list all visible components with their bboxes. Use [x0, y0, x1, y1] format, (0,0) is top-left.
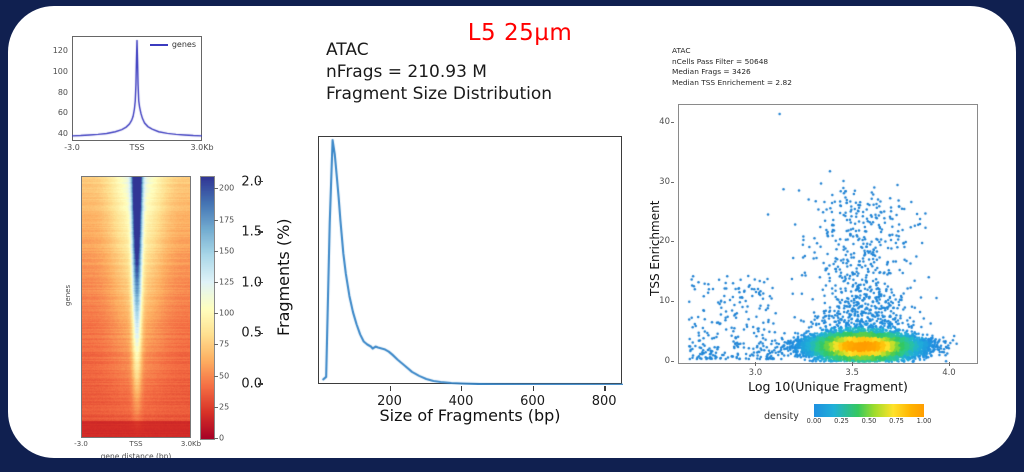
tss-heatmap-image [81, 176, 191, 438]
colorbar-tickmark [214, 220, 218, 221]
fragment-y-ticklabels: 0.00.51.01.52.0 [222, 136, 262, 384]
profile-x-tick: TSS [129, 143, 144, 152]
fragment-x-tickmark [604, 386, 605, 391]
density-colorbar: density 0.000.250.500.751.00 [764, 404, 964, 432]
scatter-y-tick: 40 [659, 117, 670, 127]
scatter-x-tickmark [949, 362, 950, 366]
scatter-y-tickmark [671, 361, 674, 362]
scatter-y-tick: 0 [665, 356, 670, 366]
colorbar-tickmark [214, 376, 218, 377]
tss-scatter-panel: ATAC nCells Pass Filter = 50648 Median F… [644, 46, 1016, 446]
scatter-y-tickmark [671, 301, 674, 302]
scatter-x-tick: 4.0 [942, 368, 956, 378]
scatter-x-tick: 3.0 [749, 368, 763, 378]
scatter-y-tick: 10 [659, 296, 670, 306]
density-tick: 0.50 [862, 417, 877, 425]
fragment-x-tick: 800 [592, 394, 617, 409]
tss-heatmap-colorbar: 0255075100125150175200 [200, 176, 213, 438]
profile-y-tick: 40 [58, 129, 68, 138]
density-tick: 0.75 [889, 417, 904, 425]
fragment-x-tickmark [461, 386, 462, 391]
fragment-y-tickmark [258, 383, 263, 384]
colorbar-tickmark [214, 282, 218, 283]
heatmap-x-tick: TSS [129, 440, 142, 448]
heatmap-x-tick: -3.0 [74, 440, 88, 448]
colorbar-tickmark [214, 407, 218, 408]
fragment-y-tickmark [258, 282, 263, 283]
slide-card: L5 25µm genes 406080100120 -3.0TSS3.0Kb … [8, 6, 1016, 458]
tss-heatmap-y-axis-label: genes [64, 285, 72, 306]
fragment-y-tickmark [258, 231, 263, 232]
fragment-panel-header: ATAC nFrags = 210.93 M Fragment Size Dis… [326, 40, 552, 105]
heatmap-x-tick: 3.0Kb [181, 440, 201, 448]
profile-x-tick: 3.0Kb [190, 143, 213, 152]
scatter-y-axis-label: TSS Enrichment [648, 201, 662, 296]
tss-scatter-plot [678, 104, 978, 364]
colorbar-tickmark [214, 313, 218, 314]
legend-line-icon [150, 44, 168, 46]
density-tick: 0.25 [834, 417, 849, 425]
scatter-x-tickmark [852, 362, 853, 366]
colorbar-tickmark [214, 344, 218, 345]
scatter-y-tickmark [671, 122, 674, 123]
scatter-y-tick: 30 [659, 177, 670, 187]
scatter-y-tickmark [671, 241, 674, 242]
scatter-y-tickmark [671, 182, 674, 183]
fragment-size-plot [318, 136, 622, 384]
legend-label-genes: genes [172, 40, 196, 49]
profile-y-tick: 60 [58, 108, 68, 117]
colorbar-gradient [200, 176, 215, 440]
fragment-y-axis-label: Fragments (%) [274, 218, 293, 336]
fragment-size-canvas [319, 137, 623, 385]
fragment-x-tickmark [533, 386, 534, 391]
scatter-x-tick: 3.5 [845, 368, 859, 378]
fragment-x-tickmark [390, 386, 391, 391]
fragment-x-axis-label: Size of Fragments (bp) [379, 406, 560, 425]
profile-y-tick: 80 [58, 88, 68, 97]
scatter-x-tickmark [755, 362, 756, 366]
density-tick: 0.00 [807, 417, 822, 425]
tss-profile-chart: genes 406080100120 -3.0TSS3.0Kb [72, 36, 202, 141]
tss-scatter-canvas [679, 105, 978, 364]
density-gradient-bar [814, 404, 924, 417]
colorbar-tickmark [214, 251, 218, 252]
slide-background: L5 25µm genes 406080100120 -3.0TSS3.0Kb … [0, 0, 1024, 472]
colorbar-tickmark [214, 438, 218, 439]
profile-y-tick: 100 [53, 67, 68, 76]
profile-y-tick: 120 [53, 46, 68, 55]
fragment-y-tickmark [258, 333, 263, 334]
tss-profile-x-ticklabels: -3.0TSS3.0Kb [72, 143, 202, 157]
tss-heatmap [81, 176, 191, 438]
tss-profile-canvas [72, 36, 202, 141]
fragment-size-panel: ATAC nFrags = 210.93 M Fragment Size Dis… [266, 36, 636, 436]
tss-heatmap-canvas [82, 177, 191, 438]
density-legend-label: density [764, 411, 799, 422]
scatter-x-axis-label: Log 10(Unique Fragment) [748, 379, 908, 394]
tss-profile-y-ticklabels: 406080100120 [46, 36, 70, 141]
profile-x-tick: -3.0 [64, 143, 80, 152]
tss-profile-legend: genes [147, 39, 199, 50]
colorbar-tickmark [214, 188, 218, 189]
tss-heatmap-x-axis-label: gene distance (bp) [101, 452, 172, 458]
density-ticklabels: 0.000.250.500.751.00 [814, 417, 924, 429]
scatter-stats-text: ATAC nCells Pass Filter = 50648 Median F… [672, 46, 792, 88]
fragment-y-tickmark [258, 181, 263, 182]
density-tick: 1.00 [917, 417, 932, 425]
